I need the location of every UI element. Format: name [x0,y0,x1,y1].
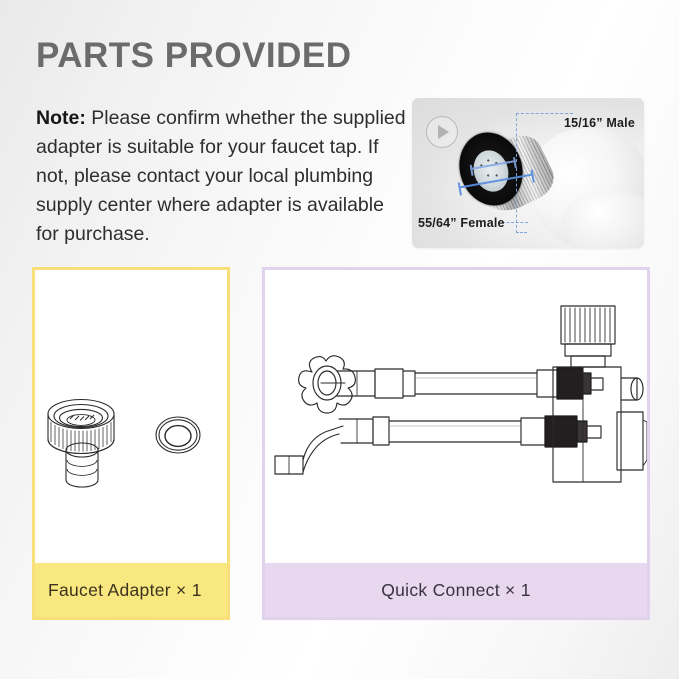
page-title: PARTS PROVIDED [36,36,352,76]
faucet-adapter-illustration [35,270,227,563]
faucet-tap-photo[interactable]: 15/16” Male 55/64” Female [412,98,644,248]
quick-connect-illustration [265,270,647,563]
note-label: Note: [36,107,86,129]
faucet-adapter-line-drawing [35,270,227,563]
quick-connect-line-drawing [265,270,647,563]
part-card-quick-connect[interactable]: Quick Connect × 1 [262,267,650,620]
label-female-thread: 55/64” Female [418,216,505,230]
note-text: Please confirm whether the supplied adap… [36,107,406,245]
part-card-faucet-adapter[interactable]: Faucet Adapter × 1 [32,267,230,620]
female-leader-line-2 [502,222,528,223]
label-male-thread: 15/16” Male [564,116,635,130]
note-block: Note: Please confirm whether the supplie… [36,104,408,249]
caption-faucet-adapter: Faucet Adapter × 1 [35,563,227,617]
parts-provided-page: PARTS PROVIDED Note: Please confirm whet… [0,0,679,679]
faucet-lower-body [562,190,644,248]
play-triangle [438,125,449,139]
caption-quick-connect: Quick Connect × 1 [265,563,647,617]
play-icon[interactable] [426,116,458,148]
